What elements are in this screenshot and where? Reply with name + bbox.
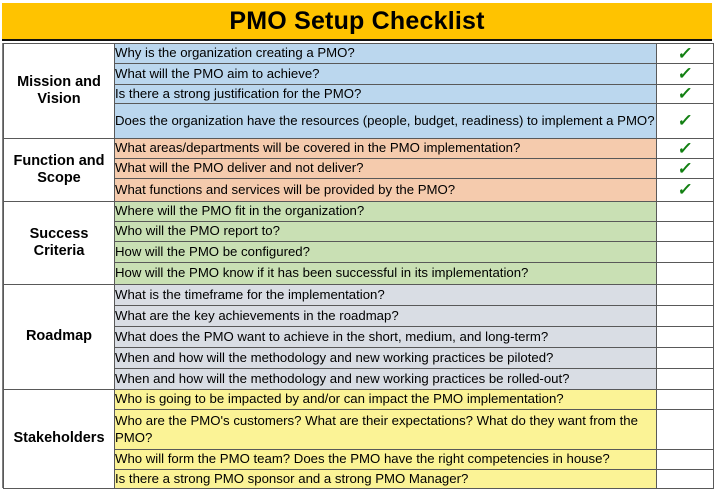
check-cell[interactable]: ✓ xyxy=(657,159,714,179)
check-cell[interactable] xyxy=(657,263,714,285)
category-label: Function and Scope xyxy=(4,139,115,202)
page-title: PMO Setup Checklist xyxy=(229,9,484,34)
table-row: Function and ScopeWhat areas/departments… xyxy=(4,139,714,159)
check-cell[interactable] xyxy=(657,306,714,327)
question-cell: When and how will the methodology and ne… xyxy=(115,348,657,369)
table-row: RoadmapWhat is the timeframe for the imp… xyxy=(4,285,714,306)
question-cell: What areas/departments will be covered i… xyxy=(115,139,657,159)
question-cell: What will the PMO deliver and not delive… xyxy=(115,159,657,179)
question-cell: Does the organization have the resources… xyxy=(115,104,657,139)
checklist-table-wrapper: Mission and VisionWhy is the organizatio… xyxy=(2,43,712,488)
title-banner: PMO Setup Checklist xyxy=(2,3,712,41)
check-cell[interactable] xyxy=(657,285,714,306)
check-icon: ✓ xyxy=(677,160,694,177)
question-cell: How will the PMO be configured? xyxy=(115,242,657,263)
question-cell: What functions and services will be prov… xyxy=(115,179,657,202)
checklist-sheet: PMO Setup Checklist Mission and VisionWh… xyxy=(0,0,720,489)
question-cell: What are the key achievements in the roa… xyxy=(115,306,657,327)
question-cell: Where will the PMO fit in the organizati… xyxy=(115,202,657,222)
check-cell[interactable]: ✓ xyxy=(657,104,714,139)
check-cell[interactable] xyxy=(657,222,714,242)
check-cell[interactable] xyxy=(657,369,714,390)
check-icon: ✓ xyxy=(677,112,694,129)
question-cell: Why is the organization creating a PMO? xyxy=(115,44,657,64)
check-cell[interactable]: ✓ xyxy=(657,44,714,64)
question-cell: Is there a strong justification for the … xyxy=(115,85,657,104)
check-cell[interactable] xyxy=(657,348,714,369)
check-icon: ✓ xyxy=(677,140,694,157)
question-cell: Who will form the PMO team? Does the PMO… xyxy=(115,450,657,470)
check-cell[interactable]: ✓ xyxy=(657,179,714,202)
check-icon: ✓ xyxy=(677,65,694,82)
question-cell: What will the PMO aim to achieve? xyxy=(115,64,657,85)
question-cell: Who are the PMO's customers? What are th… xyxy=(115,410,657,450)
table-row: Mission and VisionWhy is the organizatio… xyxy=(4,44,714,64)
checklist-table: Mission and VisionWhy is the organizatio… xyxy=(3,43,714,489)
check-cell[interactable] xyxy=(657,202,714,222)
check-cell[interactable] xyxy=(657,410,714,450)
check-icon: ✓ xyxy=(677,181,694,198)
category-label: Mission and Vision xyxy=(4,44,115,139)
question-cell: What is the timeframe for the implementa… xyxy=(115,285,657,306)
check-cell[interactable] xyxy=(657,242,714,263)
question-cell: Who will the PMO report to? xyxy=(115,222,657,242)
check-cell[interactable]: ✓ xyxy=(657,85,714,104)
question-cell: Who is going to be impacted by and/or ca… xyxy=(115,390,657,410)
check-cell[interactable] xyxy=(657,450,714,470)
check-cell[interactable] xyxy=(657,327,714,348)
question-cell: Is there a strong PMO sponsor and a stro… xyxy=(115,470,657,489)
question-cell: When and how will the methodology and ne… xyxy=(115,369,657,390)
checklist-body: Mission and VisionWhy is the organizatio… xyxy=(4,44,714,489)
check-cell[interactable] xyxy=(657,470,714,489)
check-cell[interactable]: ✓ xyxy=(657,64,714,85)
question-cell: What does the PMO want to achieve in the… xyxy=(115,327,657,348)
table-row: StakeholdersWho is going to be impacted … xyxy=(4,390,714,410)
check-icon: ✓ xyxy=(677,45,694,62)
check-cell[interactable]: ✓ xyxy=(657,139,714,159)
question-cell: How will the PMO know if it has been suc… xyxy=(115,263,657,285)
check-icon: ✓ xyxy=(677,85,694,102)
category-label: Stakeholders xyxy=(4,390,115,489)
category-label: Success Criteria xyxy=(4,202,115,285)
category-label: Roadmap xyxy=(4,285,115,390)
check-cell[interactable] xyxy=(657,390,714,410)
table-row: Success CriteriaWhere will the PMO fit i… xyxy=(4,202,714,222)
